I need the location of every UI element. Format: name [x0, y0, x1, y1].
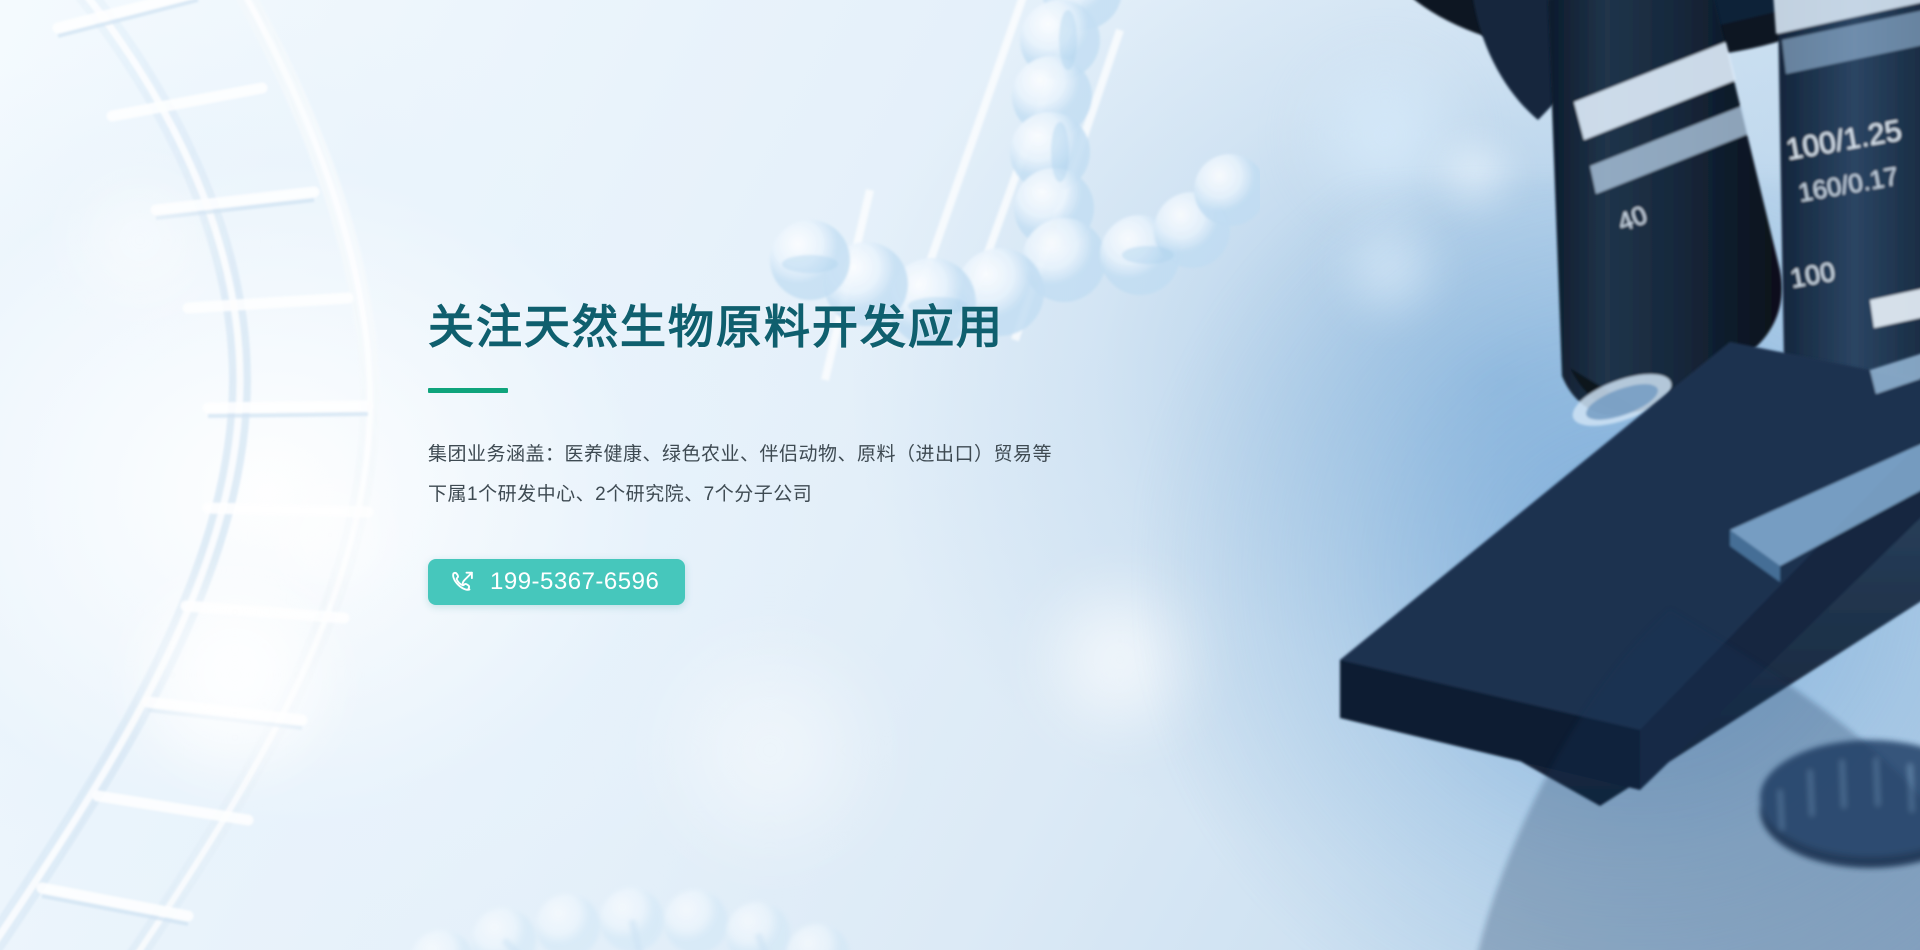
page-title: 关注天然生物原料开发应用: [428, 300, 1188, 354]
lens-label-100: 100: [1788, 257, 1838, 294]
microscope-image: 40 100/1.25 160/0.17 100: [1170, 0, 1920, 950]
hero-content: 关注天然生物原料开发应用 集团业务涵盖：医养健康、绿色农业、伴侣动物、原料（进出…: [428, 300, 1188, 605]
description-line-1: 集团业务涵盖：医养健康、绿色农业、伴侣动物、原料（进出口）贸易等: [428, 435, 1188, 475]
bokeh-blob: [1290, 40, 1480, 230]
title-divider: [428, 388, 508, 393]
hero-description: 集团业务涵盖：医养健康、绿色农业、伴侣动物、原料（进出口）贸易等 下属1个研发中…: [428, 435, 1188, 515]
bokeh-blob: [1330, 210, 1450, 330]
bokeh-blob: [1430, 130, 1520, 220]
phone-outgoing-icon: [450, 569, 476, 595]
lens-label-40: 40: [1613, 199, 1651, 237]
bokeh-blob: [55, 155, 225, 325]
bokeh-blob: [255, 460, 405, 610]
microscope-glow: [1140, 180, 1920, 950]
dna-sphere-chain-bottom-icon: [250, 690, 1010, 950]
bokeh-blob: [640, 620, 900, 880]
description-line-2: 下属1个研发中心、2个研究院、7个分子公司: [428, 475, 1188, 515]
lens-label-160-017: 160/0.17: [1796, 161, 1901, 208]
bokeh-blob: [120, 560, 350, 790]
phone-number: 199-5367-6596: [490, 570, 659, 594]
hero-banner: 40 100/1.25 160/0.17 100: [0, 0, 1920, 950]
lens-label-100-125: 100/1.25: [1783, 114, 1904, 167]
phone-cta-button[interactable]: 199-5367-6596: [428, 559, 685, 605]
